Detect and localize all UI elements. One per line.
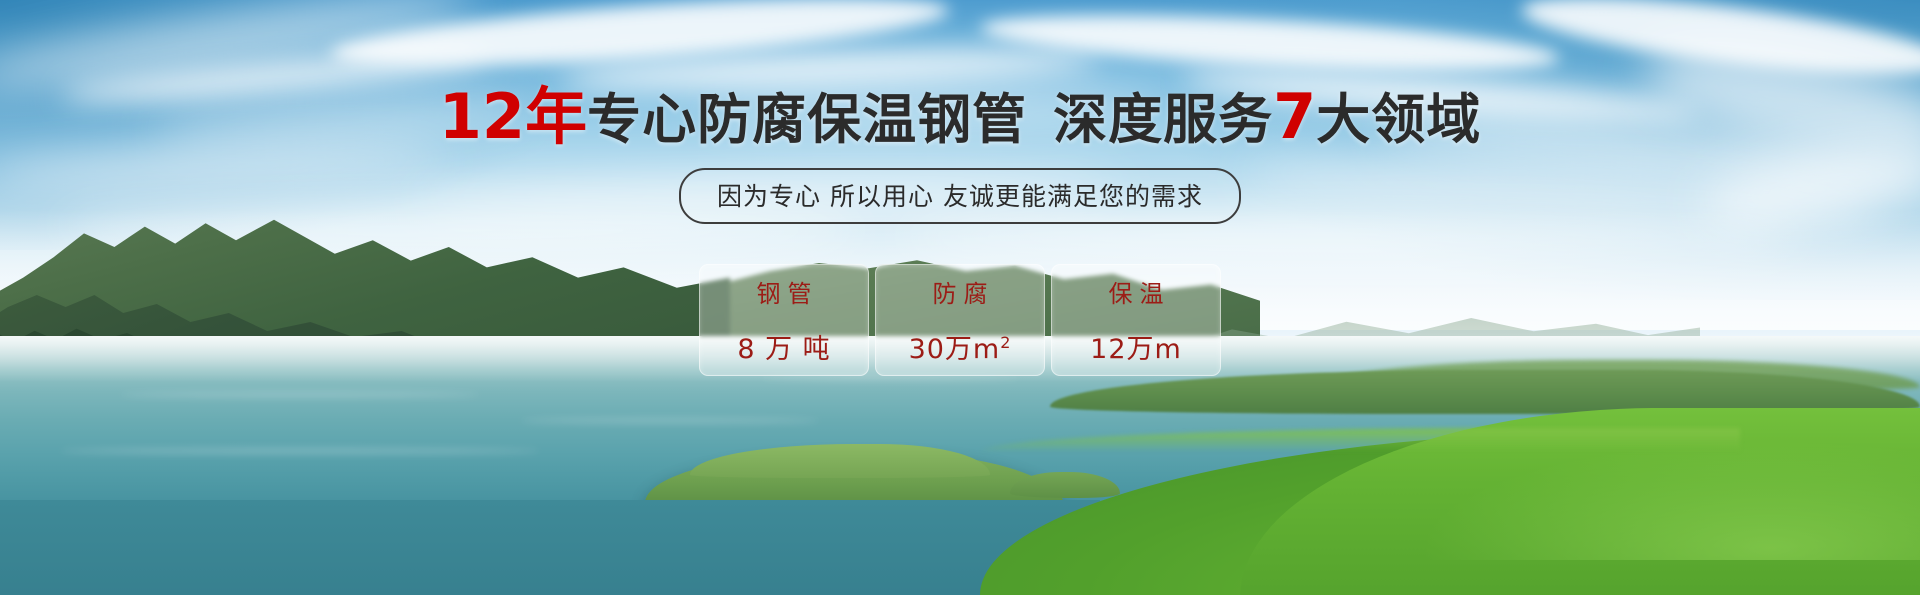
headline-focus-text: 专心防腐保温钢管 [587,88,1027,151]
stat-card-value: 12万m [1090,327,1182,366]
stat-card-anticorrosion: 防腐 30万m2 [875,264,1045,376]
banner-subtitle-wrapper: 因为专心 所以用心 友诚更能满足您的需求 [0,168,1920,224]
headline-fields-unit: 大领域 [1316,88,1481,151]
banner-headline: 12年专心防腐保温钢管深度服务7大领域 [0,84,1920,153]
stat-card-insulation: 保温 12万m [1051,264,1221,376]
stat-card-steel-pipe: 钢管 8 万 吨 [699,264,869,376]
hero-banner: 12年专心防腐保温钢管深度服务7大领域 因为专心 所以用心 友诚更能满足您的需求… [0,0,1920,595]
stat-value-main: 12万m [1090,334,1182,365]
stat-card-label: 钢管 [750,274,819,309]
headline-fields-number: 7 [1273,80,1316,153]
stat-card-group: 钢管 8 万 吨 防腐 30万m2 保温 12万m [0,264,1920,376]
stat-card-value: 8 万 吨 [737,327,830,366]
stat-card-label: 保温 [1102,274,1171,309]
banner-subtitle-pill: 因为专心 所以用心 友诚更能满足您的需求 [679,168,1241,224]
stat-value-exponent: 2 [1000,333,1011,352]
headline-service-text: 深度服务 [1053,88,1273,151]
banner-content: 12年专心防腐保温钢管深度服务7大领域 因为专心 所以用心 友诚更能满足您的需求… [0,0,1920,595]
stat-card-label: 防腐 [926,274,995,309]
headline-years-number: 12 [439,80,525,153]
headline-years-unit: 年 [525,80,587,153]
stat-value-main: 30万m [909,334,1001,365]
stat-value-main: 8 万 吨 [737,334,830,365]
stat-card-value: 30万m2 [909,327,1012,366]
